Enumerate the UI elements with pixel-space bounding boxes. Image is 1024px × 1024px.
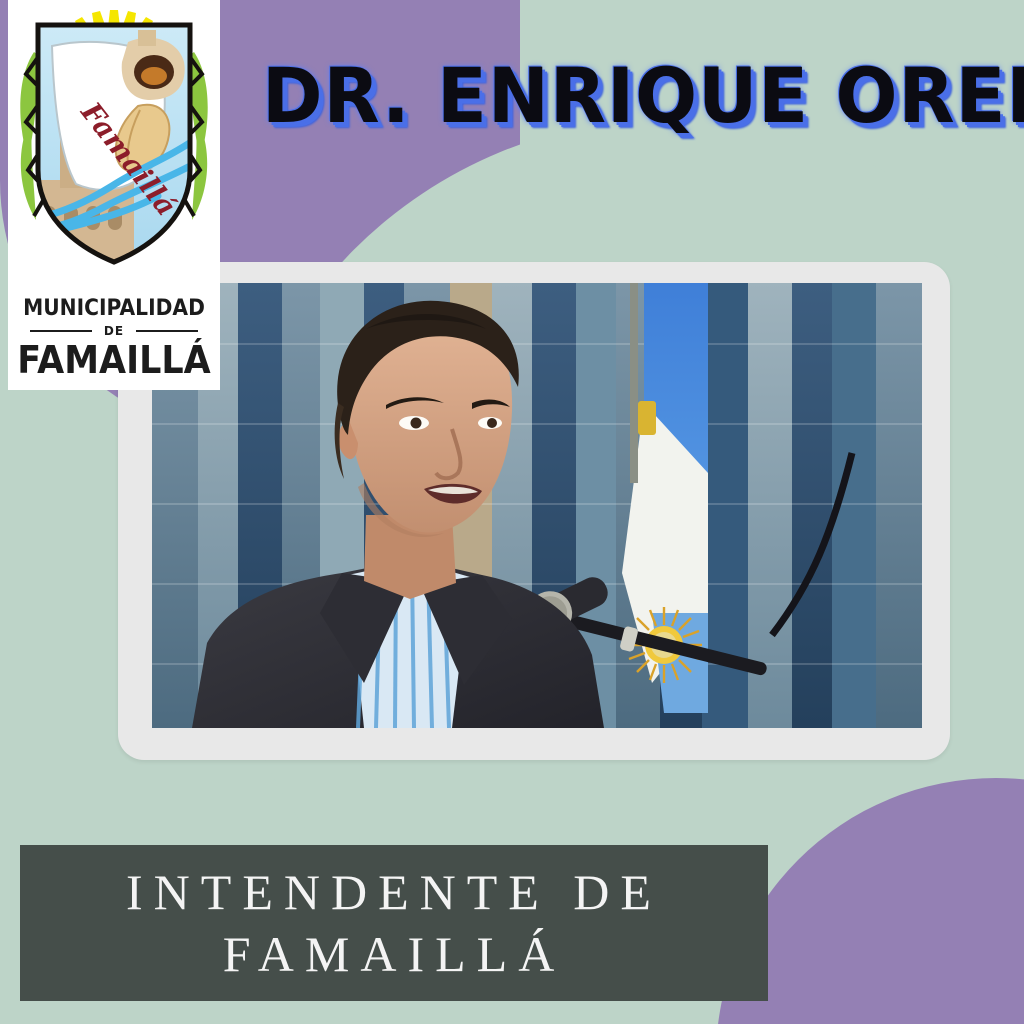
logo-town-word: FAMAILLÁ <box>16 338 211 382</box>
shield: Famaillá <box>36 22 194 266</box>
municipality-logo: Famaillá MUNICIPALIDAD DE FAMAILLÁ <box>8 0 220 390</box>
logo-divider-right <box>136 330 198 332</box>
role-banner: INTENDENTE DE FAMAILLÁ <box>20 845 768 1001</box>
coat-of-arms-icon: Famaillá <box>8 0 220 300</box>
poster-canvas: DR. ENRIQUE ORELLANA <box>0 0 1024 1024</box>
portrait-photo <box>152 283 922 728</box>
role-line-1: INTENDENTE DE <box>126 861 662 924</box>
logo-municipality-word: MUNICIPALIDAD <box>16 296 211 321</box>
page-title: DR. ENRIQUE ORELLANA <box>262 58 982 134</box>
role-banner-text: INTENDENTE DE FAMAILLÁ <box>20 845 768 1001</box>
role-line-2: FAMAILLÁ <box>223 923 566 986</box>
